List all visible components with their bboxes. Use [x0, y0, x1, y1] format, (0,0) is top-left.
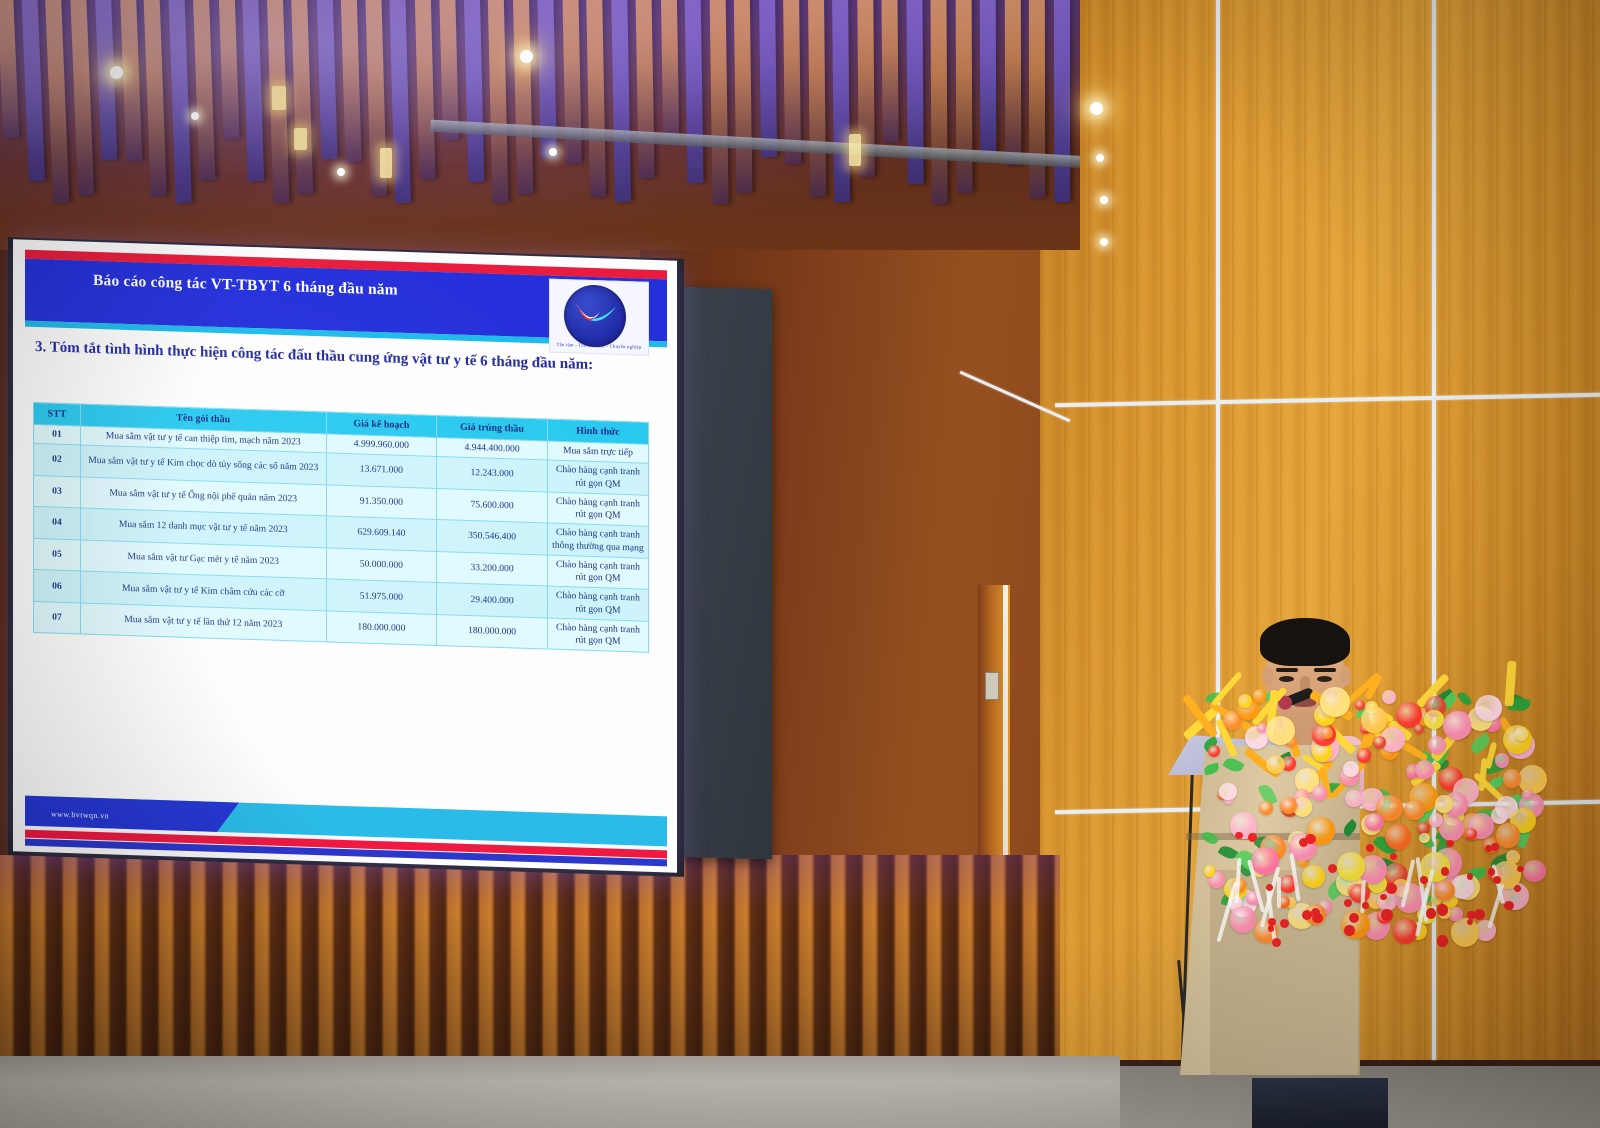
ceiling-light: [380, 148, 392, 178]
flower-berry: [1446, 840, 1453, 847]
flower-blossom: [1337, 852, 1366, 881]
flower-blossom: [1266, 755, 1285, 774]
flower-blossom: [1259, 801, 1273, 815]
flower-blossom: [1208, 745, 1220, 757]
flower-berry: [1380, 894, 1387, 901]
flower-berry: [1272, 938, 1281, 947]
flower-berry: [1366, 844, 1374, 852]
door-hinge-top: [985, 672, 999, 700]
cell-form: Chào hàng cạnh tranh rút gọn QM: [547, 460, 648, 495]
flower-blossom: [1312, 785, 1328, 801]
flower-leaf: [1222, 755, 1244, 775]
flower-blossom: [1518, 765, 1547, 794]
flower-berry: [1362, 902, 1368, 908]
flower-berry: [1386, 883, 1397, 894]
flower-berry: [1235, 832, 1242, 839]
flower-blossom: [1475, 695, 1502, 722]
ceiling-light: [849, 134, 861, 166]
flower-blossom: [1451, 918, 1480, 947]
cell-stt: 01: [34, 424, 81, 445]
flower-blossom: [1429, 813, 1443, 827]
flower-blossom: [1424, 710, 1444, 730]
flower-blossom: [1204, 865, 1216, 877]
flower-berry: [1344, 925, 1354, 935]
flower-blossom: [1495, 753, 1510, 768]
flower-leaf: [1203, 763, 1220, 776]
flower-berry: [1280, 919, 1289, 928]
cell-form: Chào hàng cạnh tranh rút gọn QM: [547, 618, 648, 653]
flower-blossom: [1382, 690, 1397, 705]
table-body: 01Mua sắm vật tư y tế can thiệp tim, mạc…: [34, 424, 649, 652]
cell-form: Chào hàng cạnh tranh rút gọn QM: [547, 555, 648, 590]
ceiling-light: [294, 128, 307, 150]
flower-berry: [1344, 899, 1352, 907]
flower-berry: [1349, 913, 1359, 923]
flower-berry: [1467, 911, 1475, 919]
flower-blossom: [1219, 783, 1237, 801]
logo-wave-icon: [572, 302, 618, 329]
flower-blossom: [1522, 789, 1533, 800]
flower-blossom: [1443, 711, 1471, 739]
flower-blossom: [1414, 724, 1424, 734]
hospital-logo: Tận tâm - Trách nhiệm - Chuyên nghiệp: [549, 279, 649, 356]
podium-base: [1252, 1078, 1388, 1128]
flower-blossom: [1514, 727, 1528, 741]
cell-plan-price: 13.671.000: [326, 453, 437, 488]
flower-berry: [1420, 876, 1428, 884]
flower-blossom: [1266, 716, 1295, 745]
flower-leaf: [1341, 818, 1359, 836]
flower-spray: [1277, 877, 1281, 908]
slide-subtitle: 3. Tóm tắt tình hình thực hiện công tác …: [35, 338, 635, 377]
flower-berry: [1437, 904, 1449, 916]
slide: Báo cáo công tác VT-TBYT 6 tháng đầu năm…: [13, 239, 677, 872]
cell-stt: 06: [34, 570, 81, 603]
flower-blossom: [1404, 800, 1424, 820]
flower-blossom: [1365, 813, 1384, 832]
flower-leaf: [1218, 843, 1240, 862]
flower-blossom: [1385, 824, 1411, 850]
cell-plan-price: 50.000.000: [326, 548, 437, 583]
cell-stt: 03: [34, 475, 81, 508]
tender-summary-table: STT Tên gói thầu Giá kế hoạch Giá trúng …: [33, 402, 649, 653]
flower-berry: [1504, 901, 1513, 910]
flower-blossom: [1230, 906, 1257, 933]
cell-form: Chào hàng cạnh tranh thông thường qua mạ…: [547, 523, 648, 558]
flower-blossom: [1435, 795, 1453, 813]
flower-blossom: [1496, 823, 1521, 848]
ceiling-light: [272, 86, 286, 110]
cell-package-name: Mua sắm vật tư y tế lần thứ 12 năm 2023: [80, 603, 326, 642]
flower-berry: [1248, 833, 1256, 841]
cell-stt: 02: [34, 444, 81, 477]
cell-stt: 04: [34, 507, 81, 540]
flower-berry: [1390, 853, 1397, 860]
cell-win-price: 29.400.000: [437, 583, 548, 618]
cell-stt: 05: [34, 538, 81, 571]
cell-stt: 07: [34, 601, 81, 634]
ceiling-light: [110, 66, 123, 79]
flower-berry: [1485, 845, 1492, 852]
flower-blossom: [1253, 689, 1266, 702]
cell-win-price: 180.000.000: [437, 614, 548, 649]
flower-blossom: [1393, 918, 1419, 944]
ceiling-light: [520, 50, 533, 63]
cell-plan-price: 51.975.000: [326, 579, 437, 614]
flower-berry: [1381, 909, 1393, 921]
logo-circle-icon: [564, 284, 626, 348]
flower-berry: [1474, 909, 1485, 920]
speaker-hair: [1260, 618, 1350, 666]
flower-berry: [1426, 908, 1437, 919]
flower-blossom: [1523, 860, 1546, 883]
cell-win-price: 75.600.000: [437, 488, 548, 523]
logo-caption: Tận tâm - Trách nhiệm - Chuyên nghiệp: [554, 342, 644, 350]
flower-blossom: [1320, 687, 1349, 716]
column-header-form: Hình thức: [547, 419, 648, 444]
flower-berry: [1488, 868, 1496, 876]
flower-blossom: [1345, 790, 1363, 808]
ceiling-light: [1090, 102, 1103, 115]
cell-form: Chào hàng cạnh tranh rút gọn QM: [547, 492, 648, 527]
footer-website-url: www.bvtwqn.vn: [51, 810, 109, 821]
flower-blossom: [1465, 828, 1477, 840]
flower-blossom: [1491, 807, 1508, 824]
cell-form: Chào hàng cạnh tranh rút gọn QM: [547, 586, 648, 621]
flower-berry: [1491, 843, 1499, 851]
flower-berry: [1268, 925, 1274, 931]
ceiling-light: [1100, 238, 1108, 246]
cell-plan-price: 180.000.000: [326, 611, 437, 646]
flower-leaf: [1457, 690, 1473, 707]
flower-berry: [1517, 866, 1523, 872]
column-header-stt: STT: [34, 402, 81, 426]
flower-leaf: [1200, 829, 1219, 847]
cell-win-price: 350.546.400: [437, 520, 548, 555]
cell-plan-price: 91.350.000: [326, 485, 437, 520]
ceiling-light: [1096, 154, 1104, 162]
cell-win-price: 33.200.000: [437, 551, 548, 586]
ceiling-light: [337, 168, 345, 176]
flower-berry: [1514, 885, 1521, 892]
wall-slat-array-lower: [0, 855, 1060, 1060]
ceiling-light: [1100, 196, 1108, 204]
flower-arrangement: [1195, 660, 1545, 960]
screenshot-root: (function(){ var c=document.currentScrip…: [0, 0, 1600, 1128]
floor: [0, 1056, 1120, 1128]
flower-berry: [1437, 935, 1449, 947]
dark-wall-panel: [672, 287, 772, 860]
flower-berry: [1266, 884, 1273, 891]
flower-blossom: [1361, 706, 1388, 733]
projection-screen[interactable]: Báo cáo công tác VT-TBYT 6 tháng đầu năm…: [13, 239, 677, 872]
cell-win-price: 12.243.000: [437, 457, 548, 492]
cell-plan-price: 629.609.140: [326, 516, 437, 551]
flower-blossom: [1419, 833, 1430, 844]
ceiling-light: [191, 112, 199, 120]
flower-blossom: [1377, 891, 1397, 911]
flower-blossom: [1302, 865, 1325, 888]
flower-blossom: [1357, 748, 1372, 763]
ceiling-slat-array: (function(){ var c=document.currentScrip…: [0, 0, 1080, 250]
flower-berry: [1328, 864, 1337, 873]
flower-blossom: [1415, 760, 1434, 779]
ceiling-light: [549, 148, 557, 156]
flower-spray: [1488, 883, 1505, 928]
